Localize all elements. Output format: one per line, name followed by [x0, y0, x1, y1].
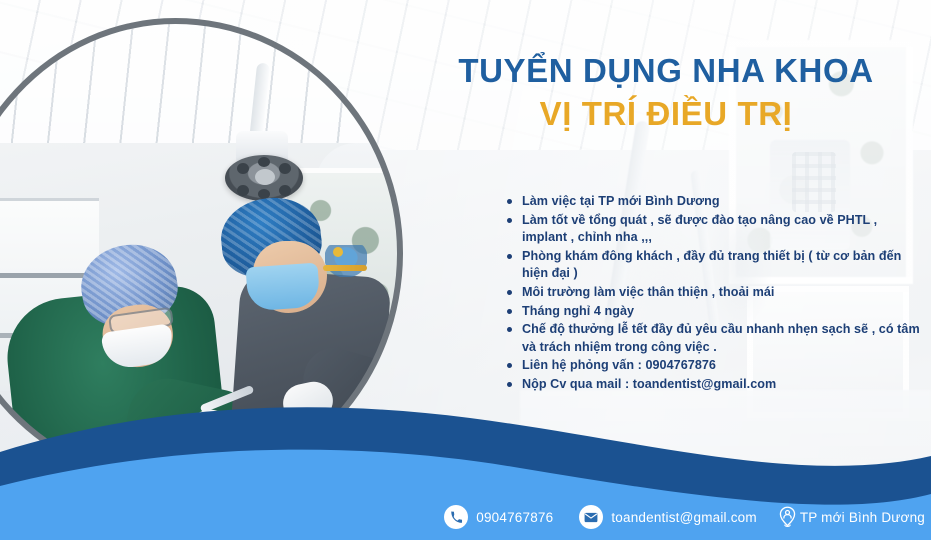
requirement-item: Môi trường làm việc thân thiện , thoải m…: [505, 284, 925, 302]
requirement-item: Làm việc tại TP mới Bình Dương: [505, 193, 925, 211]
contact-location[interactable]: TP mới Bình Dương: [777, 505, 925, 529]
contact-bar: 0904767876 toandentist@gmail.com TP: [0, 494, 931, 540]
requirements-list: Làm việc tại TP mới Bình DươngLàm tốt về…: [505, 193, 925, 395]
requirement-item: Chế độ thưởng lễ tết đầy đủ yêu cầu nhan…: [505, 321, 925, 356]
poster-title-primary: TUYỂN DỤNG NHA KHOA: [416, 52, 916, 91]
contact-phone-text: 0904767876: [476, 510, 553, 525]
requirement-item: Tháng nghỉ 4 ngày: [505, 303, 925, 321]
contact-email-text: toandentist@gmail.com: [611, 510, 756, 525]
map-pin-person-icon: [777, 505, 799, 529]
envelope-icon: [579, 505, 603, 529]
contact-email[interactable]: toandentist@gmail.com: [579, 505, 756, 529]
poster-headings: TUYỂN DỤNG NHA KHOA VỊ TRÍ ĐIỀU TRỊ: [416, 52, 916, 134]
requirement-item: Làm tốt về tổng quát , sẽ được đào tạo n…: [505, 212, 925, 247]
phone-icon: [444, 505, 468, 529]
recruitment-poster: TUYỂN DỤNG NHA KHOA VỊ TRÍ ĐIỀU TRỊ Làm …: [0, 0, 931, 540]
contact-phone[interactable]: 0904767876: [444, 505, 553, 529]
contact-location-text: TP mới Bình Dương: [800, 510, 925, 525]
requirement-item: Liên hệ phỏng vấn : 0904767876: [505, 357, 925, 375]
requirement-item: Phòng khám đông khách , đầy đủ trang thi…: [505, 248, 925, 283]
poster-title-secondary: VỊ TRÍ ĐIỀU TRỊ: [416, 95, 916, 134]
